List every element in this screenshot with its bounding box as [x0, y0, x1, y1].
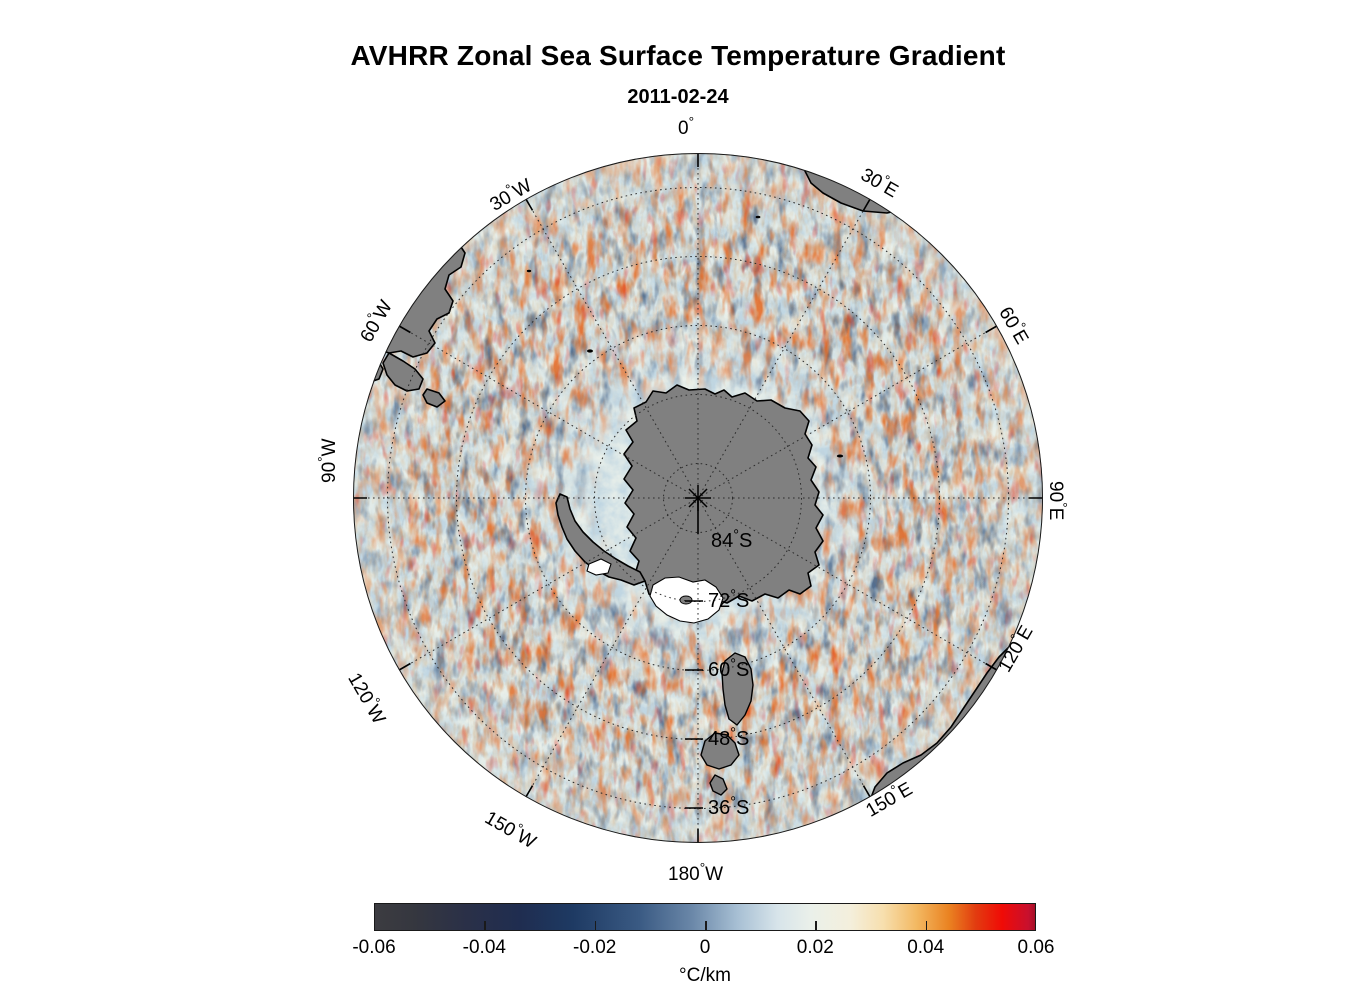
lon-label-180W: 180°W: [668, 864, 723, 886]
lat-label-84S: 84°S: [711, 530, 752, 553]
colorbar-label-1: -0.04: [463, 937, 506, 959]
latitude-ticks: [685, 601, 703, 808]
lon-label-0: 0°: [678, 118, 694, 140]
lon-label-90W: 90°W: [319, 438, 341, 483]
colorbar-label-5: 0.04: [907, 937, 944, 959]
graticule-grid: [353, 153, 1043, 843]
colorbar-label-3: 0: [700, 937, 711, 959]
lat-label-36S: 36°S: [708, 797, 749, 820]
colorbar-tick-0: [484, 921, 486, 931]
page-title: AVHRR Zonal Sea Surface Temperature Grad…: [0, 40, 1356, 72]
colorbar-tick-3: [815, 921, 817, 931]
colorbar-units-label: °C/km: [679, 965, 731, 987]
map-clip-region: [353, 153, 1043, 843]
colorbar-label-2: -0.02: [573, 937, 616, 959]
colorbar-tick-2: [705, 921, 707, 931]
polar-map[interactable]: 84°S 72°S 60°S 48°S 36°S: [353, 153, 1043, 843]
colorbar-tick-1: [595, 921, 597, 931]
lat-label-60S: 60°S: [708, 659, 749, 682]
colorbar-tick-4: [926, 921, 928, 931]
lat-label-48S: 48°S: [708, 728, 749, 751]
colorbar-label-6: 0.06: [1018, 937, 1055, 959]
chart-subtitle: 2011-02-24: [0, 86, 1356, 109]
figure-canvas: AVHRR Zonal Sea Surface Temperature Grad…: [0, 0, 1356, 1000]
colorbar[interactable]: -0.06 -0.04 -0.02 0 0.02 0.04 0.06 °C/km: [374, 903, 1036, 993]
lon-label-90E: 90°E: [1044, 481, 1066, 520]
colorbar-label-4: 0.02: [797, 937, 834, 959]
colorbar-label-0: -0.06: [352, 937, 395, 959]
lat-label-72S: 72°S: [708, 590, 749, 613]
